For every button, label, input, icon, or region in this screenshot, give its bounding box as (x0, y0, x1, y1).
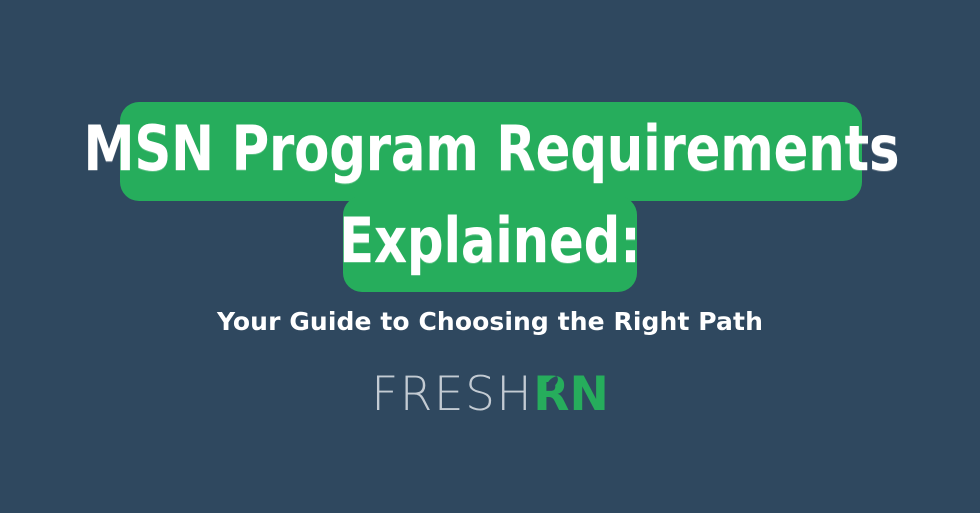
freshrn-logo: FRESHRN (0, 369, 980, 421)
headline-line-1-text: MSN Program Requirements (83, 118, 899, 180)
featured-image-banner: MSN Program Requirements Explained: Your… (0, 0, 980, 513)
headline-block: MSN Program Requirements Explained: (0, 0, 980, 300)
logo-rn-text: RN (533, 367, 609, 422)
headline-highlight-bar-line-2: Explained: (343, 196, 637, 292)
logo-word-rn: RN (533, 367, 609, 422)
headline-line-2-text: Explained: (339, 210, 640, 272)
headline-highlight-bar-line-1: MSN Program Requirements (120, 102, 862, 201)
subtitle-text: Your Guide to Choosing the Right Path (0, 305, 980, 339)
logo-word-fresh: FRESH (371, 367, 533, 422)
